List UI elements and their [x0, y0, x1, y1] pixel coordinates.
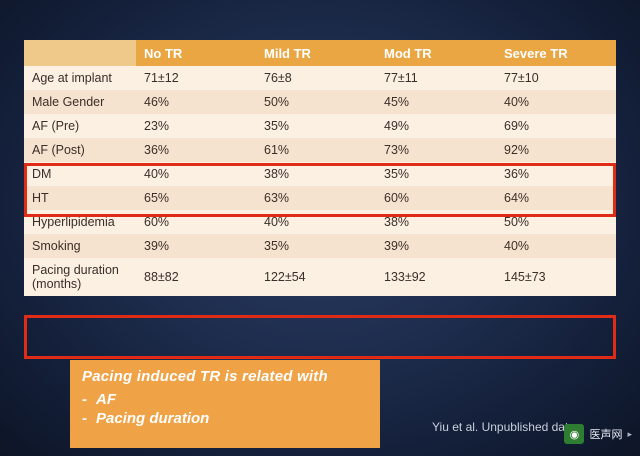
row-cell: 60% — [376, 186, 496, 210]
table-header-mild-tr: Mild TR — [256, 40, 376, 66]
conclusion-bullet-af: - AF — [96, 391, 368, 408]
chevron-right-icon: ▸ — [627, 429, 632, 440]
table-row: Pacing duration (months) 88±82 122±54 13… — [24, 258, 616, 296]
table-header-corner — [24, 40, 136, 66]
row-cell: 133±92 — [376, 258, 496, 296]
source-credit: Yiu et al. Unpublished data — [432, 420, 575, 434]
row-cell: 23% — [136, 114, 256, 138]
row-cell: 35% — [376, 162, 496, 186]
row-label: Age at implant — [24, 66, 136, 90]
bullet-dash: - — [82, 391, 87, 408]
row-cell: 77±11 — [376, 66, 496, 90]
conclusion-title: Pacing induced TR is related with — [82, 368, 368, 385]
data-table-container: No TR Mild TR Mod TR Severe TR Age at im… — [24, 40, 616, 296]
row-cell: 50% — [496, 210, 616, 234]
row-cell: 71±12 — [136, 66, 256, 90]
table-row: HT 65% 63% 60% 64% — [24, 186, 616, 210]
row-label: AF (Pre) — [24, 114, 136, 138]
row-cell: 49% — [376, 114, 496, 138]
conclusion-bullet-pacing-duration: - Pacing duration — [96, 410, 368, 427]
table-header: No TR Mild TR Mod TR Severe TR — [24, 40, 616, 66]
row-cell: 45% — [376, 90, 496, 114]
row-cell: 88±82 — [136, 258, 256, 296]
row-cell: 39% — [376, 234, 496, 258]
row-label: DM — [24, 162, 136, 186]
table-body: Age at implant 71±12 76±8 77±11 77±10 Ma… — [24, 66, 616, 296]
row-label: Smoking — [24, 234, 136, 258]
row-cell: 122±54 — [256, 258, 376, 296]
table-row: AF (Pre) 23% 35% 49% 69% — [24, 114, 616, 138]
conclusion-box: Pacing induced TR is related with - AF -… — [70, 360, 380, 448]
row-label: AF (Post) — [24, 138, 136, 162]
row-cell: 60% — [136, 210, 256, 234]
row-cell: 40% — [496, 90, 616, 114]
row-cell: 35% — [256, 114, 376, 138]
table-row: Hyperlipidemia 60% 40% 38% 50% — [24, 210, 616, 234]
row-cell: 50% — [256, 90, 376, 114]
pacing-duration-highlight-box — [24, 315, 616, 359]
table-header-mod-tr: Mod TR — [376, 40, 496, 66]
table-header-row: No TR Mild TR Mod TR Severe TR — [24, 40, 616, 66]
table-row: Age at implant 71±12 76±8 77±11 77±10 — [24, 66, 616, 90]
row-cell: 35% — [256, 234, 376, 258]
table-row: Male Gender 46% 50% 45% 40% — [24, 90, 616, 114]
row-cell: 69% — [496, 114, 616, 138]
bullet-dash: - — [82, 410, 87, 427]
row-cell: 40% — [256, 210, 376, 234]
row-label: Pacing duration (months) — [24, 258, 136, 296]
row-cell: 46% — [136, 90, 256, 114]
row-cell: 92% — [496, 138, 616, 162]
wechat-account-badge[interactable]: ◉ 医声网 ▸ — [564, 424, 632, 444]
baseline-characteristics-table: No TR Mild TR Mod TR Severe TR Age at im… — [24, 40, 616, 296]
row-cell: 40% — [136, 162, 256, 186]
table-row: AF (Post) 36% 61% 73% 92% — [24, 138, 616, 162]
row-cell: 64% — [496, 186, 616, 210]
bullet-text: Pacing duration — [96, 410, 209, 427]
conclusion-bullet-list: - AF - Pacing duration — [82, 391, 368, 427]
row-label: HT — [24, 186, 136, 210]
row-label: Hyperlipidemia — [24, 210, 136, 234]
row-cell: 36% — [496, 162, 616, 186]
row-cell: 145±73 — [496, 258, 616, 296]
row-cell: 76±8 — [256, 66, 376, 90]
table-row: DM 40% 38% 35% 36% — [24, 162, 616, 186]
row-cell: 40% — [496, 234, 616, 258]
row-cell: 73% — [376, 138, 496, 162]
table-row: Smoking 39% 35% 39% 40% — [24, 234, 616, 258]
row-cell: 36% — [136, 138, 256, 162]
row-cell: 61% — [256, 138, 376, 162]
row-cell: 38% — [256, 162, 376, 186]
row-label: Male Gender — [24, 90, 136, 114]
bullet-text: AF — [96, 391, 116, 408]
wechat-account-name: 医声网 — [589, 426, 622, 442]
row-cell: 77±10 — [496, 66, 616, 90]
slide-canvas: No TR Mild TR Mod TR Severe TR Age at im… — [0, 0, 640, 456]
table-header-severe-tr: Severe TR — [496, 40, 616, 66]
row-cell: 39% — [136, 234, 256, 258]
row-cell: 63% — [256, 186, 376, 210]
row-cell: 65% — [136, 186, 256, 210]
table-header-no-tr: No TR — [136, 40, 256, 66]
row-cell: 38% — [376, 210, 496, 234]
wechat-avatar-icon: ◉ — [564, 424, 584, 444]
